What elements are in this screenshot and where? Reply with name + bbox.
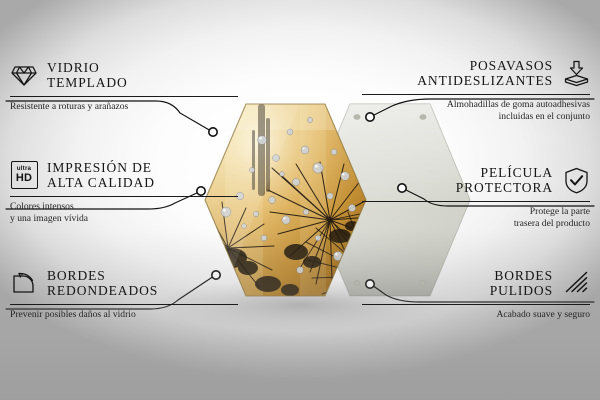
feature-title: BORDES REDONDEADOS: [47, 268, 158, 298]
water-droplets: [221, 117, 359, 273]
feature-divider: [362, 304, 590, 305]
feature-header: ultra HD IMPRESIÓN DE ALTA CALIDAD: [10, 158, 238, 192]
feature-description: Prevenir posibles daños al vidrio: [10, 309, 238, 321]
feature-header: PELÍCULA PROTECTORA: [362, 163, 590, 197]
feature-title: IMPRESIÓN DE ALTA CALIDAD: [47, 160, 155, 190]
feature-divider: [10, 196, 238, 197]
shield-check-icon: [562, 166, 590, 194]
feature-title: VIDRIO TEMPLADO: [47, 60, 128, 90]
feature-title: PELÍCULA PROTECTORA: [456, 165, 553, 195]
feature-pelicula-protectora: PELÍCULA PROTECTORA Protege la parte tra…: [362, 163, 590, 229]
rounded-corner-icon: [10, 269, 38, 297]
feature-divider: [10, 304, 238, 305]
feature-description: Protege la parte trasera del producto: [362, 206, 590, 229]
feature-title: BORDES PULIDOS: [490, 268, 553, 298]
feature-description: Almohadillas de goma autoadhesivas inclu…: [362, 99, 590, 122]
feature-header: VIDRIO TEMPLADO: [10, 58, 238, 92]
feature-bordes-pulidos: BORDES PULIDOS Acabado suave y seguro: [362, 266, 590, 321]
feature-header: BORDES REDONDEADOS: [10, 266, 238, 300]
feature-header: BORDES PULIDOS: [362, 266, 590, 300]
diagonal-hatch-icon: [562, 269, 590, 297]
feature-description: Colores intensos y una imagen vívida: [10, 201, 238, 224]
feature-bordes-redondeados: BORDES REDONDEADOS Prevenir posibles dañ…: [10, 266, 238, 321]
ultra-hd-badge-bottom: HD: [16, 173, 32, 184]
ultra-hd-badge-icon: ultra HD: [10, 161, 38, 189]
feature-description: Resistente a roturas y arañazos: [10, 101, 238, 113]
feature-posavasos-antideslizantes: POSAVASOS ANTIDESLIZANTES Almohadillas d…: [362, 56, 590, 122]
diamond-icon: [10, 61, 38, 89]
feature-vidrio-templado: VIDRIO TEMPLADO Resistente a roturas y a…: [10, 58, 238, 113]
feature-impresion-alta-calidad: ultra HD IMPRESIÓN DE ALTA CALIDAD Color…: [10, 158, 238, 224]
feature-divider: [362, 94, 590, 95]
feature-title: POSAVASOS ANTIDESLIZANTES: [417, 58, 553, 88]
feature-header: POSAVASOS ANTIDESLIZANTES: [362, 56, 590, 90]
feature-description: Acabado suave y seguro: [362, 309, 590, 321]
feature-divider: [10, 96, 238, 97]
press-pad-arrow-icon: [562, 59, 590, 87]
product-infographic: VIDRIO TEMPLADO Resistente a roturas y a…: [0, 0, 600, 400]
feature-divider: [362, 201, 590, 202]
